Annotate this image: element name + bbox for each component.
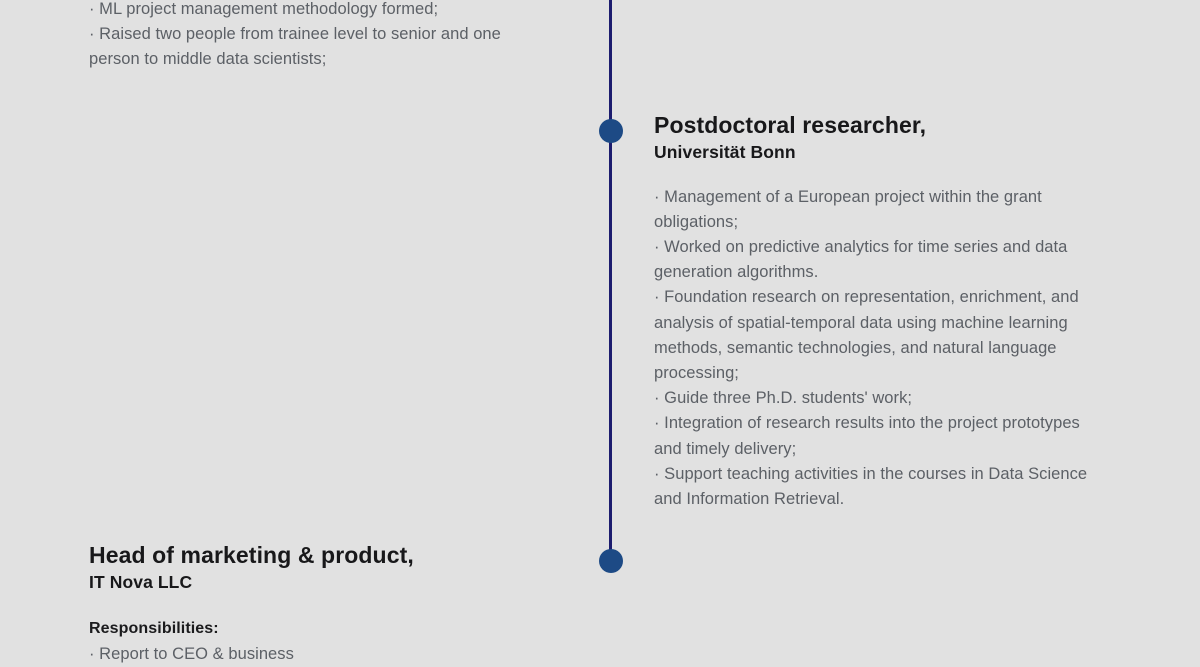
resume-page: · ML project management methodology form… [0, 0, 1200, 640]
list-item: · Raised two people from trainee level t… [89, 22, 559, 47]
list-item: obligations; [654, 210, 1144, 235]
list-item: and Information Retrieval. [654, 487, 1144, 512]
list-item: · Worked on predictive analytics for tim… [654, 235, 1144, 260]
list-item: processing; [654, 361, 1144, 386]
list-item: · Integration of research results into t… [654, 411, 1144, 436]
list-item: · Foundation research on representation,… [654, 285, 1144, 310]
responsibility-list: · ML project management methodology form… [89, 0, 559, 73]
entry-title: Head of marketing & product, [89, 543, 569, 569]
list-item: · Report to CEO & business [89, 642, 569, 667]
responsibilities-label: Responsibilities: [89, 616, 569, 641]
list-item: · Management of a European project withi… [654, 185, 1144, 210]
list-item: and timely delivery; [654, 437, 1144, 462]
list-item: · ML project management methodology form… [89, 0, 559, 22]
entry-organization: IT Nova LLC [89, 572, 569, 594]
responsibility-list: · Management of a European project withi… [654, 185, 1144, 513]
list-item: generation algorithms. [654, 260, 1144, 285]
experience-entry-head-of-marketing: Head of marketing & product, IT Nova LLC… [89, 543, 569, 667]
entry-title: Postdoctoral researcher, [654, 113, 1144, 139]
timeline-axis [609, 0, 612, 561]
experience-entry-postdoc: Postdoctoral researcher, Universität Bon… [654, 113, 1144, 512]
list-item: · Support teaching activities in the cou… [654, 462, 1144, 487]
list-item: analysis of spatial-temporal data using … [654, 311, 1144, 336]
entry-organization: Universität Bonn [654, 142, 1144, 164]
list-item: methods, semantic technologies, and natu… [654, 336, 1144, 361]
experience-entry-previous-continued: · ML project management methodology form… [89, 0, 559, 73]
timeline-dot-head-of-marketing [599, 549, 623, 573]
responsibility-list: · Report to CEO & business [89, 642, 569, 667]
list-item: person to middle data scientists; [89, 47, 559, 72]
timeline-dot-postdoc [599, 119, 623, 143]
list-item: · Guide three Ph.D. students' work; [654, 386, 1144, 411]
